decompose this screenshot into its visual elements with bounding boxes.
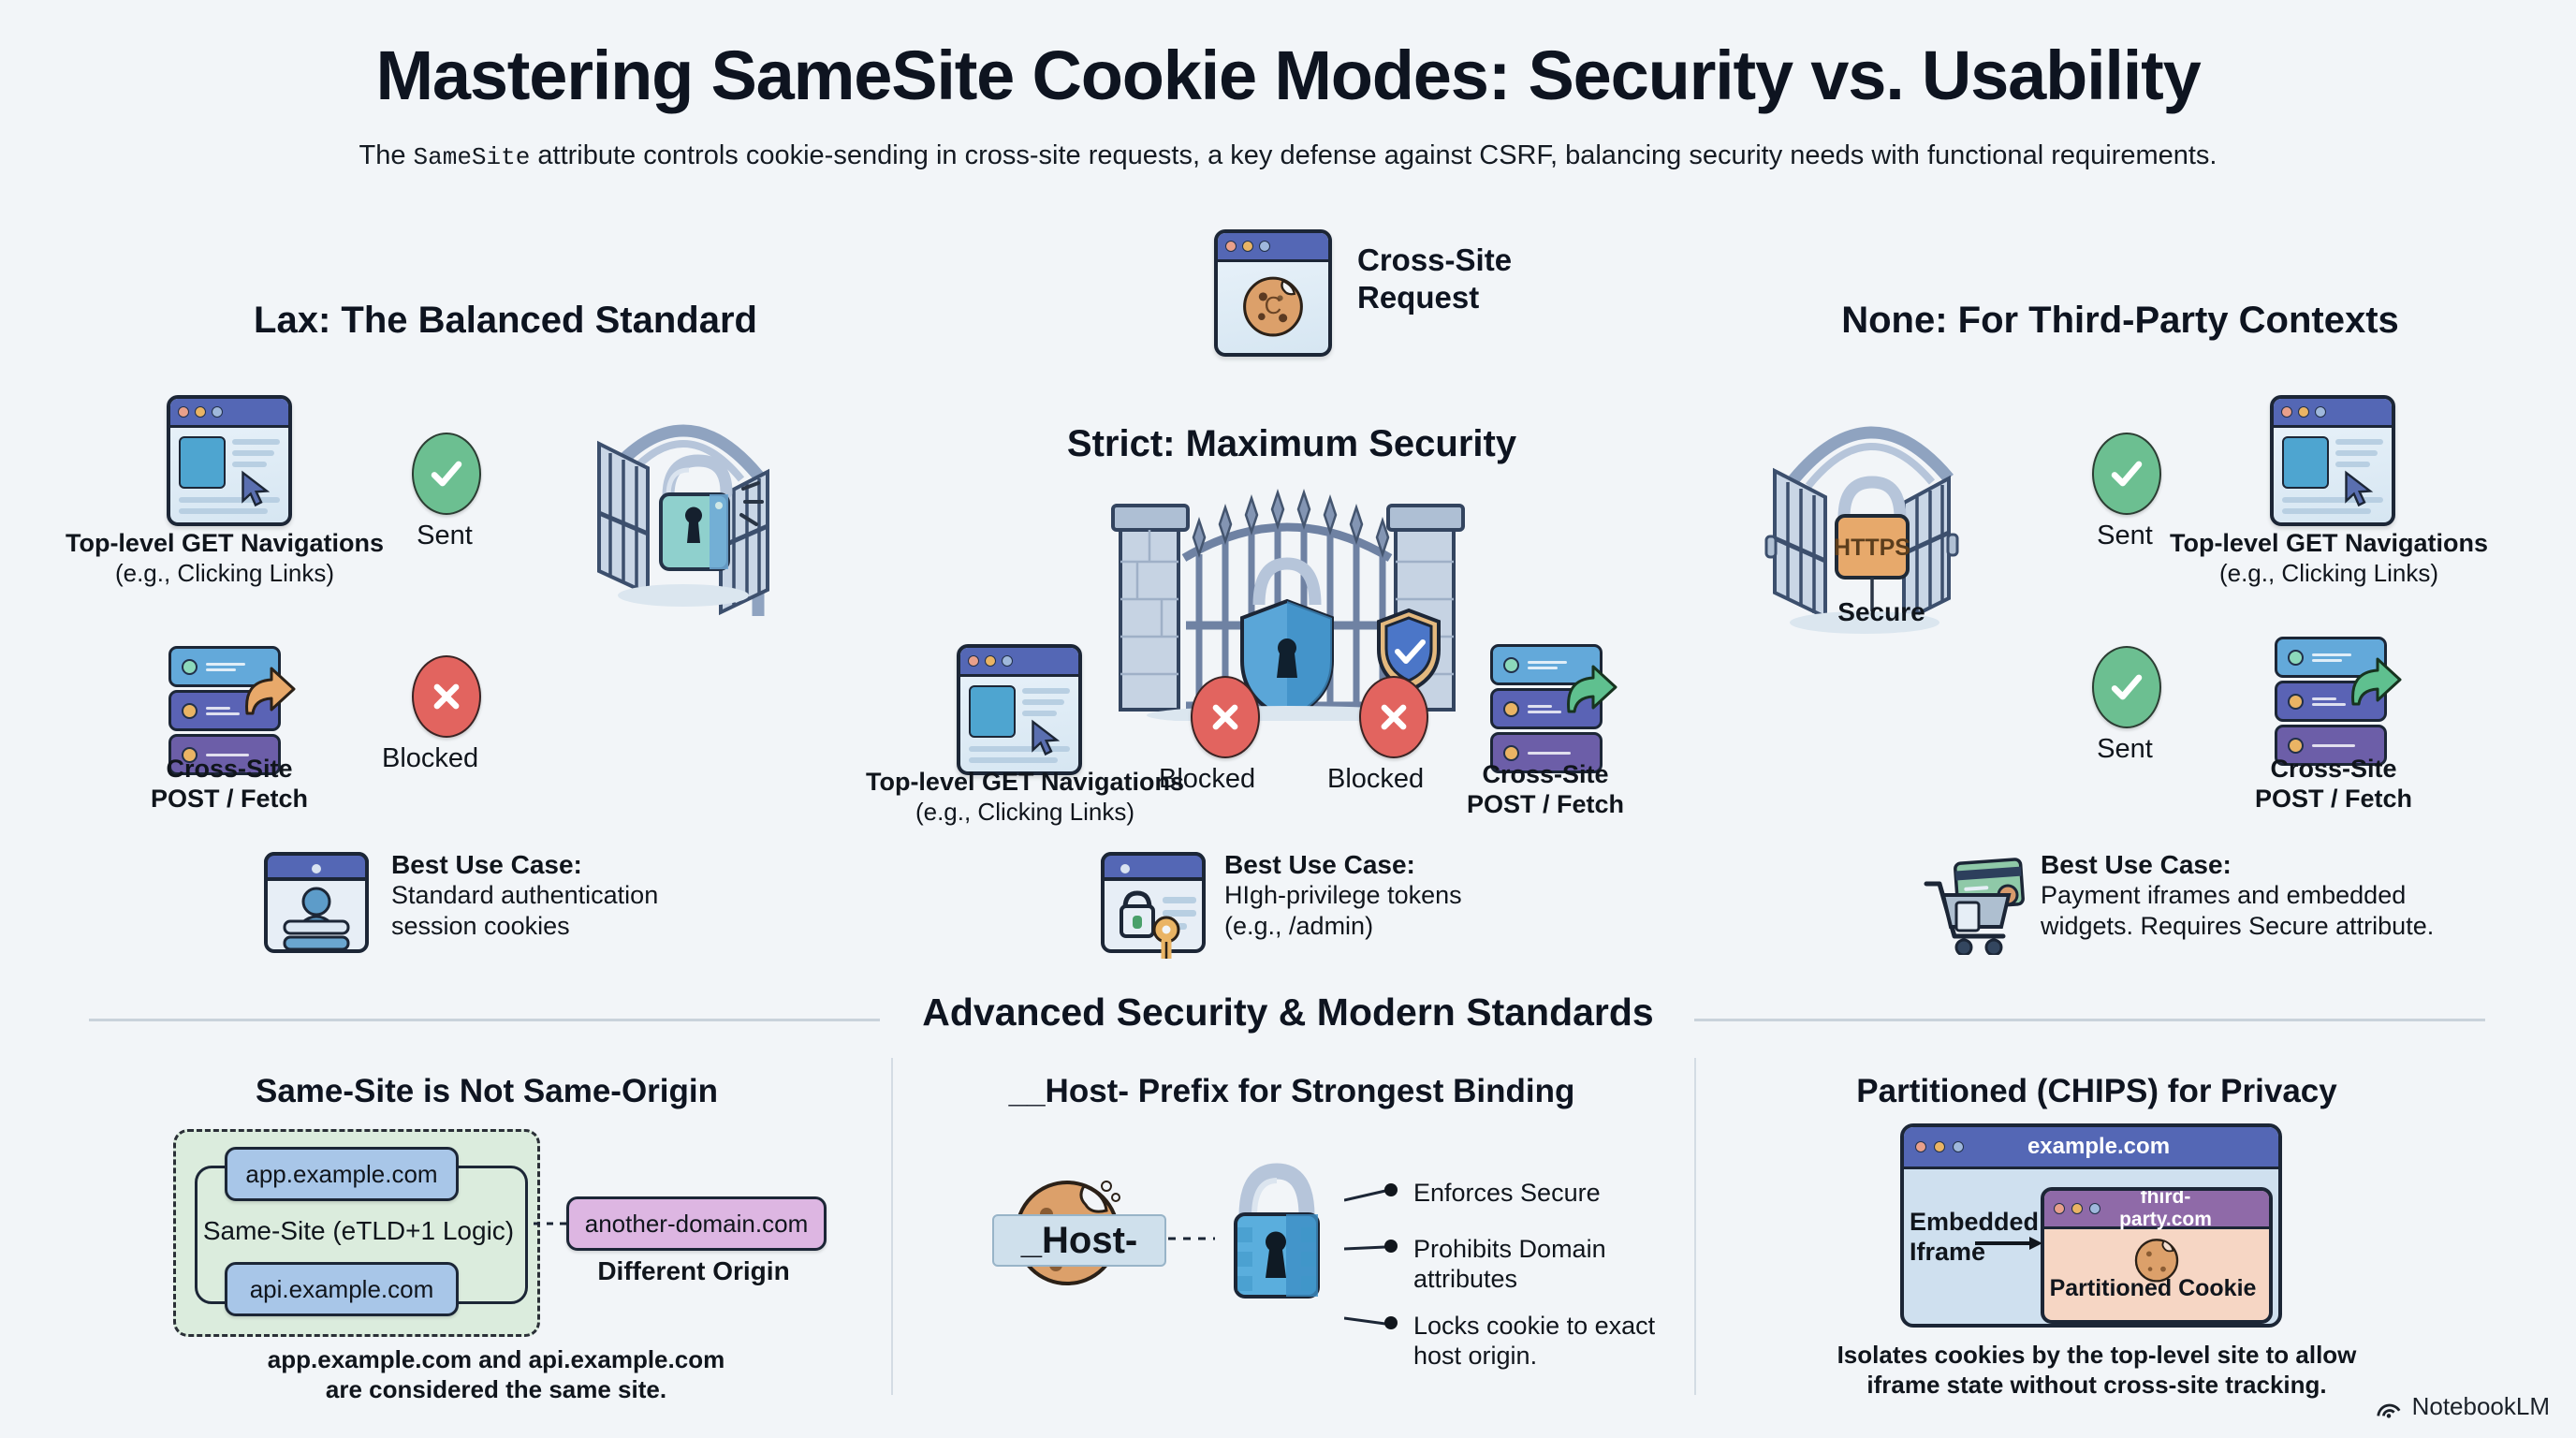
- panel-2-bullet-1-text: Prohibits Domain attributes: [1413, 1234, 1694, 1295]
- none-get-navigation-sublabel: (e.g., Clicking Links): [2160, 559, 2497, 588]
- panel-2-bullet-2-text: Locks cookie to exact host origin.: [1413, 1311, 1694, 1372]
- lax-cross-site-post-label-line1: Cross-Site: [103, 755, 356, 785]
- padlock-icon: [1215, 1158, 1337, 1308]
- panel-1-caption: app.example.com and api.example.com are …: [122, 1345, 871, 1404]
- arrow-right-icon: [1975, 1234, 2042, 1253]
- lax-get-navigation-label: Top-level GET Navigations: [56, 529, 393, 559]
- cross-site-request-label: Cross-Site Request: [1357, 242, 1638, 317]
- chips-outer-url: example.com: [1971, 1134, 2278, 1160]
- cross-site-request-label-line2: Request: [1357, 279, 1638, 316]
- lax-use-case-line1: Standard authentication: [391, 880, 784, 911]
- notebooklm-watermark-label: NotebookLM: [2412, 1392, 2550, 1421]
- strict-cross-site-post-label: Cross-Site POST / Fetch: [1419, 760, 1672, 820]
- strict-use-case-line1: HIgh-privilege tokens: [1224, 880, 1617, 911]
- panel-3-title: Partitioned (CHIPS) for Privacy: [1713, 1073, 2481, 1110]
- strict-cross-site-post-label-line1: Cross-Site: [1419, 760, 1672, 790]
- dashed-connector-icon: [1168, 1232, 1215, 1245]
- chip-api-subdomain[interactable]: api.example.com: [225, 1262, 459, 1316]
- strict-use-case-heading: Best Use Case:: [1224, 850, 1617, 880]
- none-use-case-line1: Payment iframes and embedded: [2041, 880, 2527, 911]
- strict-post-status: Blocked: [1359, 676, 1428, 795]
- lax-get-status: Sent: [412, 433, 481, 551]
- panel-3-caption-line1: Isolates cookies by the top-level site t…: [1722, 1341, 2471, 1371]
- leader-line-icon: [1344, 1316, 1402, 1337]
- arrow-out-icon: [1558, 657, 1625, 732]
- cross-site-request-label-line1: Cross-Site: [1357, 242, 1638, 279]
- svg-text:C: C: [1265, 293, 1282, 319]
- none-get-status: Sent: [2092, 433, 2161, 551]
- strict-get-navigation-label: Top-level GET Navigations: [856, 768, 1193, 798]
- lax-get-status-label: Sent: [412, 521, 477, 551]
- leader-line-icon: [1344, 1240, 1402, 1260]
- page-subtitle: The SameSite attribute controls cookie-s…: [0, 140, 2576, 171]
- none-get-status-label: Sent: [2092, 521, 2158, 551]
- vertical-divider-1: [891, 1058, 893, 1395]
- strict-use-case-icon: [1097, 850, 1217, 963]
- chip-app-subdomain[interactable]: app.example.com: [225, 1147, 459, 1201]
- etld-logic-label: Same-Site (eTLD+1 Logic): [195, 1216, 522, 1246]
- subtitle-post: attribute controls cookie-sending in cro…: [530, 140, 2217, 170]
- cursor-icon: [2341, 470, 2377, 509]
- chips-inner-url: fhird-party.com: [2107, 1187, 2269, 1231]
- lax-use-case-text: Best Use Case: Standard authentication s…: [391, 850, 784, 942]
- notebooklm-logo-icon: [2375, 1393, 2403, 1421]
- lax-use-case-icon: [260, 850, 373, 960]
- panel-1-caption-line2: are considered the same site.: [122, 1375, 871, 1405]
- none-cross-site-post-label: Cross-Site POST / Fetch: [2207, 755, 2460, 814]
- chips-inner-titlebar: fhird-party.com: [2044, 1191, 2269, 1229]
- leader-line-icon: [1344, 1183, 1402, 1204]
- cross-site-request-icon: C: [1214, 229, 1332, 357]
- notebooklm-watermark: NotebookLM: [2375, 1392, 2550, 1421]
- cookie-icon: C: [1237, 270, 1309, 341]
- panel-1-title: Same-Site is Not Same-Origin: [112, 1073, 861, 1110]
- none-cross-site-post-label-line1: Cross-Site: [2207, 755, 2460, 785]
- lax-cross-site-post-label: Cross-Site POST / Fetch: [103, 755, 356, 814]
- lax-use-case-line2: session cookies: [391, 911, 784, 942]
- different-origin-label: Different Origin: [566, 1256, 821, 1286]
- host-prefix-chip[interactable]: _Host-: [992, 1214, 1166, 1267]
- infographic-root: Mastering SameSite Cookie Modes: Securit…: [0, 0, 2576, 1438]
- panel-2-title: __Host- Prefix for Strongest Binding: [908, 1073, 1676, 1110]
- none-get-navigation-label: Top-level GET Navigations: [2160, 529, 2497, 559]
- chip-another-domain[interactable]: another-domain.com: [566, 1196, 827, 1251]
- panel-2-bullet-0: Enforces Secure: [1344, 1178, 1601, 1208]
- cross-icon: [1191, 676, 1260, 758]
- strict-post-status-label: Blocked: [1327, 764, 1393, 795]
- none-cross-site-post-icon: [2275, 637, 2387, 753]
- panel-2-bullet-0-text: Enforces Secure: [1413, 1178, 1601, 1208]
- cursor-icon: [1028, 719, 1063, 758]
- dashed-connector-icon: [534, 1217, 571, 1230]
- none-use-case-line2: widgets. Requires Secure attribute.: [2041, 911, 2527, 942]
- strict-section-title: Strict: Maximum Security: [936, 423, 1647, 465]
- cross-icon: [1359, 676, 1428, 758]
- lax-cross-site-post-icon: [168, 646, 281, 762]
- none-cross-site-post-label-line2: POST / Fetch: [2207, 785, 2460, 814]
- strict-use-case-line2: (e.g., /admin): [1224, 911, 1617, 942]
- none-section-title: None: For Third-Party Contexts: [1722, 300, 2518, 342]
- none-post-status: Sent: [2092, 646, 2161, 765]
- panel-2-bullet-2: Locks cookie to exact host origin.: [1344, 1311, 1700, 1372]
- check-icon: [2092, 646, 2161, 728]
- chips-inner-iframe: fhird-party.com: [2041, 1187, 2273, 1324]
- lax-get-navigation-icon: [167, 395, 292, 526]
- lax-open-gate-icon: [543, 363, 824, 630]
- subtitle-pre: The: [359, 140, 413, 170]
- none-post-status-label: Sent: [2092, 734, 2158, 765]
- panel-1-caption-line1: app.example.com and api.example.com: [122, 1345, 871, 1375]
- strict-get-status: Blocked: [1191, 676, 1260, 795]
- arrow-out-icon: [236, 659, 303, 734]
- lax-post-status-label: Blocked: [382, 743, 447, 774]
- svg-text:HTTPS: HTTPS: [1834, 535, 1910, 561]
- partitioned-cookie-label: Partitioned Cookie: [2041, 1275, 2265, 1302]
- lax-get-navigation-sublabel: (e.g., Clicking Links): [56, 559, 393, 588]
- strict-cross-site-post-label-line2: POST / Fetch: [1419, 790, 1672, 820]
- check-icon: [2092, 433, 2161, 515]
- none-secure-label: Secure: [1807, 597, 1956, 627]
- none-get-navigation-icon: [2270, 395, 2395, 526]
- none-use-case-text: Best Use Case: Payment iframes and embed…: [2041, 850, 2527, 942]
- lax-post-status: Blocked: [412, 655, 481, 774]
- arrow-out-icon: [2342, 650, 2409, 725]
- none-use-case-heading: Best Use Case:: [2041, 850, 2527, 880]
- strict-get-navigation-icon: [957, 644, 1082, 775]
- panel-3-caption: Isolates cookies by the top-level site t…: [1722, 1341, 2471, 1400]
- strict-cross-site-post-icon: [1490, 644, 1603, 760]
- lax-cross-site-post-label-line2: POST / Fetch: [103, 785, 356, 814]
- cursor-icon: [238, 470, 273, 509]
- advanced-section-title: Advanced Security & Modern Standards: [0, 990, 2576, 1034]
- subtitle-attribute-name: SameSite: [414, 143, 531, 171]
- check-icon: [412, 433, 481, 515]
- page-title: Mastering SameSite Cookie Modes: Securit…: [0, 36, 2576, 115]
- none-use-case-icon: [1921, 850, 2033, 960]
- strict-get-navigation-sublabel: (e.g., Clicking Links): [856, 798, 1193, 827]
- chips-outer-titlebar: example.com: [1904, 1127, 2278, 1169]
- lax-use-case-heading: Best Use Case:: [391, 850, 784, 880]
- strict-use-case-text: Best Use Case: HIgh-privilege tokens (e.…: [1224, 850, 1617, 942]
- cross-icon: [412, 655, 481, 738]
- strict-get-status-label: Blocked: [1159, 764, 1224, 795]
- panel-2-bullet-1: Prohibits Domain attributes: [1344, 1234, 1700, 1295]
- panel-3-caption-line2: iframe state without cross-site tracking…: [1722, 1371, 2471, 1401]
- lax-section-title: Lax: The Balanced Standard: [150, 300, 861, 342]
